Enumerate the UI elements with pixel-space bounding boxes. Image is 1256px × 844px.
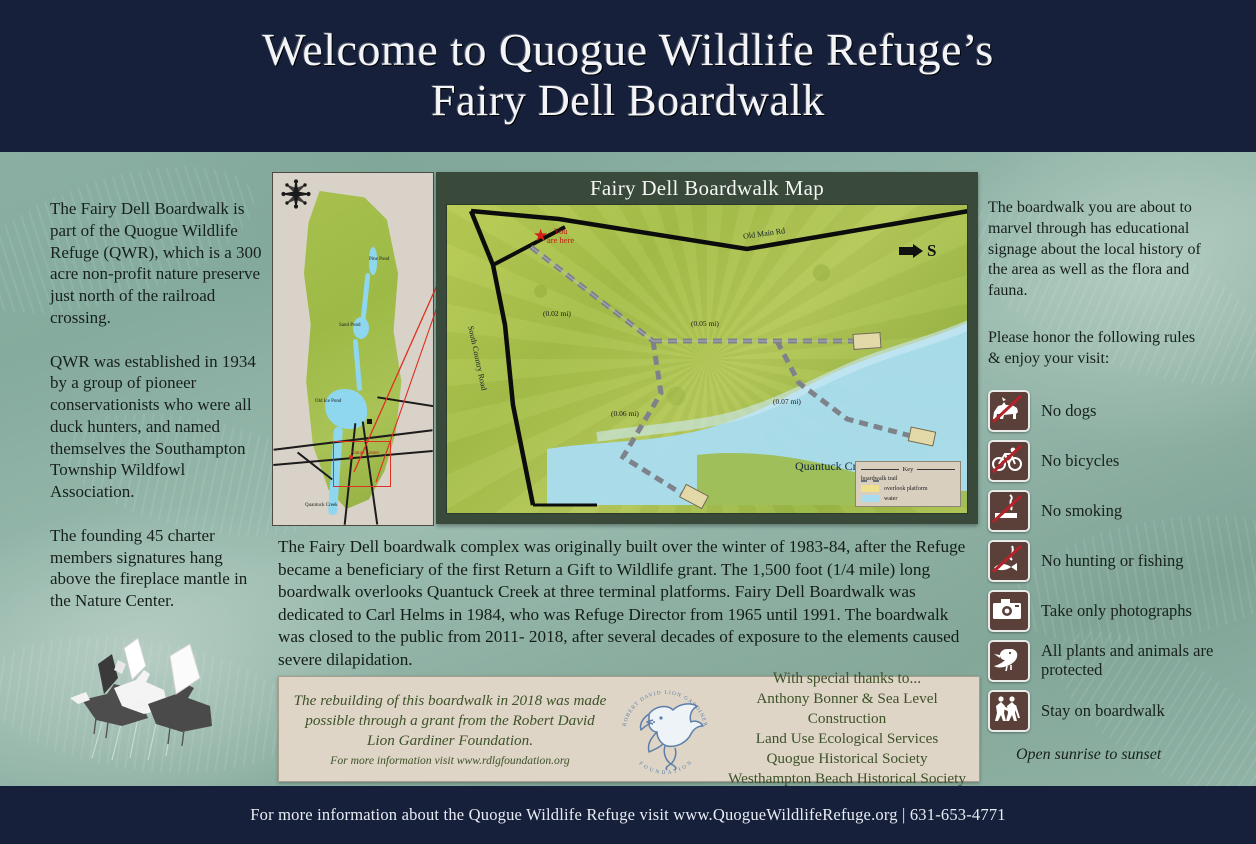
grant-url: For more information visit www.rdlgfound… bbox=[291, 754, 609, 767]
flying-ducks-illustration bbox=[52, 608, 242, 768]
interpretive-sign: Welcome to Quogue Wildlife Refuge’s Fair… bbox=[0, 0, 1256, 844]
main-map-panel: Fairy Dell Boardwalk Map bbox=[436, 172, 978, 524]
rule-plants-and-animals-protected: All plants and animals are protected bbox=[988, 640, 1238, 682]
direction-letter: S bbox=[927, 241, 936, 261]
left-paragraph-2: QWR was established in 1934 by a group o… bbox=[50, 351, 265, 503]
rule-take-only-photographs: Take only photographs bbox=[988, 590, 1238, 632]
bird-icon bbox=[988, 640, 1030, 682]
rule-stay-on-boardwalk: Stay on boardwalk bbox=[988, 690, 1238, 732]
map-title: Fairy Dell Boardwalk Map bbox=[436, 172, 978, 204]
header-line-1: Welcome to Quogue Wildlife Refuge’s bbox=[262, 25, 994, 75]
thanks-item-1: Anthony Bonner & Sea Level Construction bbox=[721, 689, 973, 729]
no-hunting-or-fishing-icon bbox=[988, 540, 1030, 582]
rule-label-no-hunting-or-fishing: No hunting or fishing bbox=[1041, 552, 1184, 571]
no-bicycles-icon bbox=[988, 440, 1030, 482]
left-paragraph-3: The founding 45 charter members signatur… bbox=[50, 525, 265, 612]
sign-footer: For more information about the Quogue Wi… bbox=[0, 786, 1256, 844]
no-dogs-icon bbox=[988, 390, 1030, 432]
map-key-title: Key bbox=[903, 466, 914, 473]
gardiner-foundation-logo: ROBERT DAVID LION GARDINER FOUNDATION bbox=[609, 680, 721, 778]
platform-swatch bbox=[861, 485, 879, 492]
overlook-platform-1 bbox=[852, 332, 881, 350]
trail-swatch bbox=[861, 480, 879, 482]
osprey-icon bbox=[640, 704, 703, 770]
right-text-column: The boardwalk you are about to marvel th… bbox=[988, 198, 1203, 396]
left-text-column: The Fairy Dell Boardwalk is part of the … bbox=[50, 198, 265, 634]
thanks-list: With special thanks to... Anthony Bonner… bbox=[721, 669, 979, 790]
map-distance-0-02: (0.02 mi) bbox=[543, 309, 571, 318]
right-paragraph-2: Please honor the following rules & enjoy… bbox=[988, 328, 1203, 370]
locator-label-quantuck-creek: Quantuck Creek bbox=[305, 503, 338, 508]
rule-label-no-bicycles: No bicycles bbox=[1041, 452, 1119, 471]
map-distance-0-07: (0.07 mi) bbox=[773, 397, 801, 406]
hours-note: Open sunrise to sunset bbox=[1016, 746, 1238, 764]
water-swatch bbox=[861, 495, 879, 502]
you-are-here-label: You are here bbox=[547, 227, 574, 246]
nature-center-marker bbox=[367, 419, 372, 424]
camera-icon bbox=[988, 590, 1030, 632]
map-key-item-platform: overlook platform bbox=[861, 485, 955, 492]
you-are-here-star-icon: ★ bbox=[533, 227, 548, 244]
rule-label-no-smoking: No smoking bbox=[1041, 502, 1122, 521]
thanks-item-2: Land Use Ecological Services bbox=[721, 729, 973, 749]
platform-swatch-label: overlook platform bbox=[884, 486, 928, 492]
rule-label-take-only-photographs: Take only photographs bbox=[1041, 602, 1192, 621]
rule-no-bicycles: No bicycles bbox=[988, 440, 1238, 482]
grant-credit: The rebuilding of this boardwalk in 2018… bbox=[279, 691, 609, 766]
footer-text: For more information about the Quogue Wi… bbox=[250, 805, 1005, 825]
direction-indicator: S bbox=[899, 241, 936, 261]
header-line-2: Fairy Dell Boardwalk bbox=[431, 75, 825, 127]
detail-extent-box bbox=[333, 441, 391, 487]
history-paragraph: The Fairy Dell boardwalk complex was ori… bbox=[278, 536, 978, 671]
map-key: Key boardwalk trail overlook platform wa… bbox=[855, 461, 961, 507]
left-paragraph-1: The Fairy Dell Boardwalk is part of the … bbox=[50, 198, 265, 329]
map-distance-0-05: (0.05 mi) bbox=[691, 319, 719, 328]
water-swatch-label: water bbox=[884, 496, 897, 502]
rule-label-plants-and-animals-protected: All plants and animals are protected bbox=[1041, 642, 1238, 680]
no-smoking-icon bbox=[988, 490, 1030, 532]
locator-label-sand-pond: Sand Pond bbox=[339, 323, 361, 328]
right-paragraph-1: The boardwalk you are about to marvel th… bbox=[988, 198, 1203, 302]
map-key-item-water: water bbox=[861, 495, 955, 502]
sand-pond bbox=[353, 317, 369, 339]
map-distance-0-06: (0.06 mi) bbox=[611, 409, 639, 418]
rule-label-no-dogs: No dogs bbox=[1041, 402, 1096, 421]
locator-label-pine-pond: Pine Pond bbox=[369, 257, 389, 262]
rule-no-dogs: No dogs bbox=[988, 390, 1238, 432]
rule-label-stay-on-boardwalk: Stay on boardwalk bbox=[1041, 702, 1165, 721]
map-key-title-row: Key bbox=[861, 466, 955, 473]
credits-panel: The rebuilding of this boardwalk in 2018… bbox=[278, 676, 980, 782]
rule-no-smoking: No smoking bbox=[988, 490, 1238, 532]
rules-list: No dogs No bicycles bbox=[988, 390, 1238, 764]
locator-label-nature-center: Nature Center bbox=[351, 451, 379, 456]
locator-map: Pine Pond Sand Pond Old Ice Pond Nature … bbox=[272, 172, 434, 526]
thanks-title: With special thanks to... bbox=[721, 669, 973, 689]
grant-text: The rebuilding of this boardwalk in 2018… bbox=[291, 691, 609, 750]
rule-no-hunting-or-fishing: No hunting or fishing bbox=[988, 540, 1238, 582]
arrow-right-icon bbox=[899, 244, 923, 258]
thanks-item-3: Quogue Historical Society bbox=[721, 749, 973, 769]
hikers-icon bbox=[988, 690, 1030, 732]
map-canvas: ★ You are here Old Main Rd South Country… bbox=[446, 204, 968, 514]
map-key-item-trail: boardwalk trail bbox=[861, 476, 955, 482]
compass-rose-icon bbox=[281, 179, 311, 209]
locator-label-old-ice-pond: Old Ice Pond bbox=[315, 399, 341, 404]
sign-header: Welcome to Quogue Wildlife Refuge’s Fair… bbox=[0, 0, 1256, 152]
